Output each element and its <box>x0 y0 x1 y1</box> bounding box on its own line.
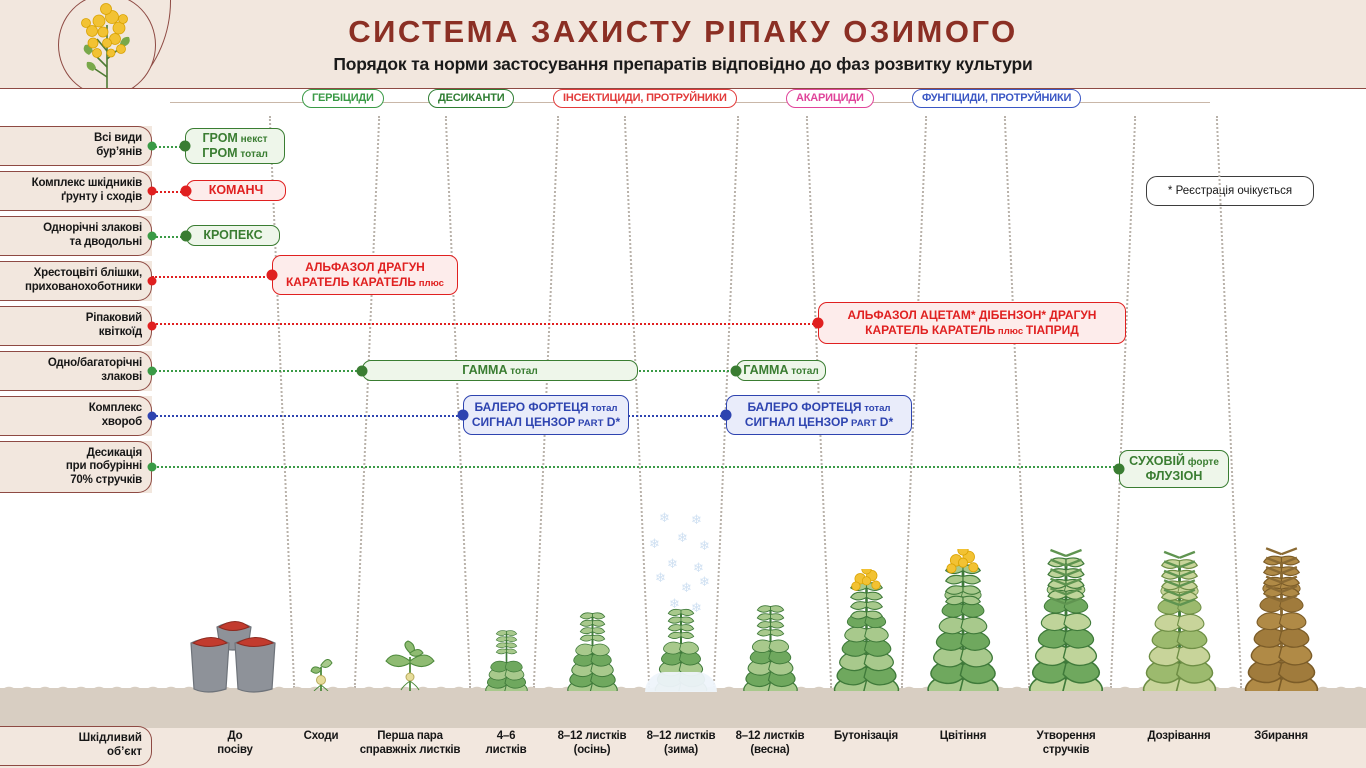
komanch-box[interactable]: КОМАНЧ <box>186 180 286 201</box>
product-line: КАРАТЕЛЬ КАРАТЕЛЬ плюс <box>286 275 444 290</box>
row-label-line: бур’янів <box>96 146 142 160</box>
product-line: ГРОМ тотал <box>202 146 268 161</box>
komanch-box-dot <box>181 185 192 196</box>
product-line: КРОПЕКС <box>203 228 262 243</box>
legend-badge-2[interactable]: ІНСЕКТИЦИДИ, ПРОТРУЙНИКИ <box>553 89 737 108</box>
product-token: PART <box>575 418 603 429</box>
row-label-1: Комплекс шкідниківґрунту і сходів <box>0 171 152 211</box>
plant-art-first-leaf-pair <box>379 639 441 696</box>
plant-art-pod-formation <box>1011 541 1121 696</box>
axis-stage-line: Цвітіння <box>903 730 1023 744</box>
product-token: PART <box>848 418 876 429</box>
row-label-5: Одно/багаторічнізлакові <box>0 351 152 391</box>
product-token: тотал <box>589 403 618 414</box>
axis-stage-line: (весна) <box>710 744 830 758</box>
product-token: АЛЬФАЗОЛ АЦЕТАМ* ДІБЕНЗОН* ДРАГУН <box>848 308 1097 322</box>
row-label-line: Ріпаковий <box>86 312 142 326</box>
plant-art-budding <box>818 569 915 696</box>
row-label-line: прихованохоботники <box>25 281 142 295</box>
product-token: D* <box>876 415 893 429</box>
plant-art-flowering <box>910 549 1016 696</box>
row-label-0: Всі видибур’янів <box>0 126 152 166</box>
alfazol-dragun-box-dot <box>267 270 278 281</box>
plant-art-harvest <box>1227 539 1336 696</box>
alfazol-acetam-box[interactable]: АЛЬФАЗОЛ АЦЕТАМ* ДІБЕНЗОН* ДРАГУНКАРАТЕЛ… <box>818 302 1126 344</box>
product-token: ГАММА <box>462 363 507 377</box>
plant-art-rosette-autumn <box>555 603 630 696</box>
grom-box[interactable]: ГРОМ некстГРОМ тотал <box>185 128 285 164</box>
product-token: тотал <box>788 366 818 377</box>
product-token: тотал <box>507 366 537 377</box>
product-line: БАЛЕРО ФОРТЕЦЯ тотал <box>747 400 890 415</box>
row-label-line: ґрунту і сходів <box>61 191 142 205</box>
snowflake-icon: ❄ <box>649 536 660 552</box>
row-label-4: Ріпаковийквіткоїд <box>0 306 152 346</box>
product-token: КАРАТЕЛЬ КАРАТЕЛЬ <box>286 275 416 289</box>
alfazol-dragun-box[interactable]: АЛЬФАЗОЛ ДРАГУНКАРАТЕЛЬ КАРАТЕЛЬ плюс <box>272 255 458 295</box>
snowflake-icon: ❄ <box>699 574 710 590</box>
balero-box-1[interactable]: БАЛЕРО ФОРТЕЦЯ тоталСИГНАЛ ЦЕНЗОР PART D… <box>463 395 629 435</box>
row-label-6: Комплексхвороб <box>0 396 152 436</box>
product-line: СИГНАЛ ЦЕНЗОР PART D* <box>472 415 620 430</box>
axis-left-line-2: об’єкт <box>107 746 142 760</box>
product-token: КАРАТЕЛЬ КАРАТЕЛЬ <box>865 323 995 337</box>
product-token: D* <box>603 415 620 429</box>
snowflake-icon: ❄ <box>669 596 680 612</box>
snowflake-icon: ❄ <box>691 600 702 616</box>
plant-art-seed-bags <box>187 615 283 698</box>
snowflake-icon: ❄ <box>677 530 688 546</box>
row-label-line: Десикація <box>87 447 142 461</box>
gamma-total-box-1-dot <box>357 365 368 376</box>
row-label-line: Комплекс шкідників <box>32 177 142 191</box>
product-line: БАЛЕРО ФОРТЕЦЯ тотал <box>474 400 617 415</box>
alfazol-acetam-box-dot <box>813 318 824 329</box>
product-token: ГРОМ <box>202 131 237 145</box>
timeline-column-1 <box>354 116 380 688</box>
gamma-total-box-2[interactable]: ГАММА тотал <box>736 360 826 381</box>
product-line: КОМАНЧ <box>209 183 264 198</box>
suhoviy-box[interactable]: СУХОВІЙ фортеФЛУЗІОН <box>1119 450 1229 488</box>
product-token: форте <box>1185 457 1219 468</box>
balero-box-1-dot <box>458 410 469 421</box>
legend-badge-0[interactable]: ГЕРБІЦИДИ <box>302 89 384 108</box>
plant-art-rosette-small <box>475 623 538 696</box>
axis-left-line-1: Шкідливий <box>79 732 142 746</box>
legend-bar: ГЕРБІЦИДИДЕСИКАНТИІНСЕКТИЦИДИ, ПРОТРУЙНИ… <box>0 89 1366 115</box>
grom-box-dot <box>180 141 191 152</box>
gamma-total-box-1[interactable]: ГАММА тотал <box>362 360 638 381</box>
product-line: ГАММА тотал <box>743 363 818 378</box>
axis-stage-line: Збирання <box>1221 730 1341 744</box>
snow-overlay: ❄❄❄❄❄❄❄❄❄❄❄❄ <box>647 508 717 618</box>
axis-stage-8: Цвітіння <box>903 730 1023 744</box>
product-token: ТІАПРИД <box>1026 323 1079 337</box>
balero-box-2[interactable]: БАЛЕРО ФОРТЕЦЯ тоталСИГНАЛ ЦЕНЗОР PART D… <box>726 395 912 435</box>
connector-alfazol-2 <box>152 323 818 325</box>
product-line: ГАММА тотал <box>462 363 537 378</box>
plant-art-sprout <box>308 647 334 696</box>
product-token: некст <box>238 134 268 145</box>
axis-stage-line: стручків <box>1006 744 1126 758</box>
product-line: ГРОМ некст <box>202 131 267 146</box>
product-token: плюс <box>995 326 1026 337</box>
kropeks-box[interactable]: КРОПЕКС <box>186 225 280 246</box>
row-label-2: Однорічні злаковіта дводольні <box>0 216 152 256</box>
snowflake-icon: ❄ <box>691 512 702 528</box>
connector-alfazol-1 <box>152 276 272 278</box>
page-header: СИСТЕМА ЗАХИСТУ РІПАКУ ОЗИМОГО Порядок т… <box>0 0 1366 89</box>
registration-note-text: * Реєстрація очікується <box>1168 185 1292 197</box>
row-label-line: 70% стручків <box>70 474 142 488</box>
product-token: тотал <box>862 403 891 414</box>
product-token: тотал <box>238 149 268 160</box>
snow-mound <box>645 672 717 692</box>
kropeks-box-dot <box>181 230 192 241</box>
product-token: БАЛЕРО ФОРТЕЦЯ <box>747 400 861 414</box>
product-token: СУХОВІЙ <box>1129 454 1185 468</box>
row-label-line: квіткоїд <box>99 326 142 340</box>
row-label-7: Десикаціяпри побурінні70% стручків <box>0 441 152 493</box>
product-line: СИГНАЛ ЦЕНЗОР PART D* <box>745 415 893 430</box>
axis-stage-line: Утворення <box>1006 730 1126 744</box>
product-token: ГРОМ <box>202 146 237 160</box>
axis-left-label: Шкідливий об’єкт <box>0 726 152 766</box>
snowflake-icon: ❄ <box>699 538 710 554</box>
axis-stage-line: посіву <box>175 744 295 758</box>
product-token: КРОПЕКС <box>203 228 262 242</box>
suhoviy-box-dot <box>1114 464 1125 475</box>
product-token: ДРАГУН <box>378 260 425 274</box>
snowflake-icon: ❄ <box>681 580 692 596</box>
row-label-line: Одно/багаторічні <box>48 357 142 371</box>
row-label-line: Комплекс <box>89 402 142 416</box>
row-label-line: Всі види <box>94 132 142 146</box>
registration-note: * Реєстрація очікується <box>1146 176 1314 206</box>
axis-stage-11: Збирання <box>1221 730 1341 744</box>
row-label-line: хвороб <box>102 416 142 430</box>
product-token: АЛЬФАЗОЛ <box>305 260 374 274</box>
product-token: ГАММА <box>743 363 788 377</box>
legend-badge-4[interactable]: ФУНГІЦИДИ, ПРОТРУЙНИКИ <box>912 89 1081 108</box>
product-token: плюс <box>416 278 444 289</box>
balero-box-2-dot <box>721 410 732 421</box>
connector-suhoviy <box>152 466 1119 468</box>
product-token: БАЛЕРО ФОРТЕЦЯ <box>474 400 588 414</box>
product-token: СИГНАЛ ЦЕНЗОР <box>472 415 575 429</box>
row-label-3: Хрестоцвіті блішки,прихованохоботники <box>0 261 152 301</box>
axis-stage-9: Утвореннястручків <box>1006 730 1126 757</box>
row-label-line: при побурінні <box>66 460 142 474</box>
snowflake-icon: ❄ <box>659 510 670 526</box>
product-token: КОМАНЧ <box>209 183 264 197</box>
gamma-total-box-2-dot <box>731 365 742 376</box>
product-line: АЛЬФАЗОЛ ДРАГУН <box>305 260 425 275</box>
page-subtitle: Порядок та норми застосування препаратів… <box>0 54 1366 75</box>
product-token: СИГНАЛ ЦЕНЗОР <box>745 415 848 429</box>
plant-art-ripening <box>1125 543 1234 696</box>
product-token: ФЛУЗІОН <box>1146 469 1203 483</box>
snowflake-icon: ❄ <box>667 556 678 572</box>
row-label-line: Однорічні злакові <box>43 222 142 236</box>
row-label-line: та дводольні <box>70 236 142 250</box>
product-line: ФЛУЗІОН <box>1146 469 1203 484</box>
legend-badge-1[interactable]: ДЕСИКАНТИ <box>428 89 514 108</box>
plant-art-rosette-spring <box>730 595 811 696</box>
timeline-column-0 <box>269 116 295 688</box>
product-line: СУХОВІЙ форте <box>1129 454 1219 469</box>
snowflake-icon: ❄ <box>655 570 666 586</box>
product-line: КАРАТЕЛЬ КАРАТЕЛЬ плюс ТІАПРИД <box>865 323 1079 338</box>
row-label-line: Хрестоцвіті блішки, <box>34 267 142 281</box>
connector-balero <box>152 415 726 417</box>
page-title: СИСТЕМА ЗАХИСТУ РІПАКУ ОЗИМОГО <box>0 14 1366 50</box>
legend-badge-3[interactable]: АКАРИЦИДИ <box>786 89 874 108</box>
row-label-line: злакові <box>101 371 142 385</box>
product-line: АЛЬФАЗОЛ АЦЕТАМ* ДІБЕНЗОН* ДРАГУН <box>848 308 1097 323</box>
